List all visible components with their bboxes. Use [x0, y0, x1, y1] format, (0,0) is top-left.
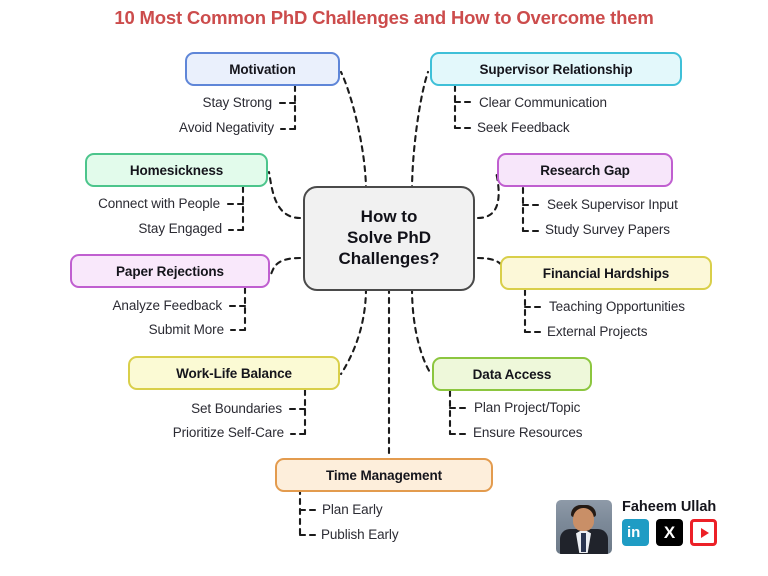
branch-node-paper-rejections[interactable]: Paper Rejections	[70, 254, 270, 288]
avatar-tie	[581, 533, 586, 552]
sub-item-plan-project-topic: Plan Project/Topic	[474, 400, 580, 415]
sub-item-stay-engaged: Stay Engaged	[25, 221, 222, 236]
central-node-line-3: Challenges?	[338, 249, 439, 270]
branch-label: Financial Hardships	[543, 266, 669, 281]
sub-item-ensure-resources: Ensure Resources	[473, 425, 582, 440]
branch-node-time-management[interactable]: Time Management	[275, 458, 493, 492]
sub-item-clear-communication: Clear Communication	[479, 95, 607, 110]
sub-item-external-projects: External Projects	[547, 324, 647, 339]
central-node-line-1: How to	[338, 207, 439, 228]
branch-label: Data Access	[473, 367, 552, 382]
avatar	[556, 500, 612, 554]
branch-label: Homesickness	[130, 163, 223, 178]
sub-item-prioritize-self-care: Prioritize Self-Care	[85, 425, 284, 440]
branch-label: Motivation	[229, 62, 296, 77]
central-node[interactable]: How to Solve PhD Challenges?	[303, 186, 475, 291]
author-name: Faheem Ullah	[622, 499, 716, 515]
sub-item-stay-strong: Stay Strong	[75, 95, 272, 110]
branch-node-supervisor-relationship[interactable]: Supervisor Relationship	[430, 52, 682, 86]
branch-node-work-life-balance[interactable]: Work-Life Balance	[128, 356, 340, 390]
sub-item-plan-early: Plan Early	[322, 502, 383, 517]
avatar-face	[573, 508, 594, 531]
youtube-icon[interactable]	[690, 519, 717, 546]
sub-item-seek-feedback: Seek Feedback	[477, 120, 570, 135]
x-glyph: X	[664, 524, 675, 541]
sub-item-analyze-feedback: Analyze Feedback	[35, 298, 222, 313]
branch-label: Work-Life Balance	[176, 366, 292, 381]
sub-item-submit-more: Submit More	[35, 322, 224, 337]
branch-label: Paper Rejections	[116, 264, 224, 279]
x-twitter-icon[interactable]: X	[656, 519, 683, 546]
sub-item-study-survey-papers: Study Survey Papers	[545, 222, 670, 237]
linkedin-icon[interactable]: in	[622, 519, 649, 546]
branch-node-motivation[interactable]: Motivation	[185, 52, 340, 86]
linkedin-glyph: in	[627, 525, 640, 540]
central-node-line-2: Solve PhD	[338, 228, 439, 249]
sub-item-set-boundaries: Set Boundaries	[85, 401, 282, 416]
branch-node-research-gap[interactable]: Research Gap	[497, 153, 673, 187]
sub-item-connect-with-people: Connect with People	[25, 196, 220, 211]
branch-node-data-access[interactable]: Data Access	[432, 357, 592, 391]
branch-node-financial-hardships[interactable]: Financial Hardships	[500, 256, 712, 290]
youtube-play-glyph	[701, 528, 709, 538]
mindmap-canvas: 10 Most Common PhD Challenges and How to…	[0, 0, 768, 576]
author-attribution: Faheem Ullah in X	[556, 498, 756, 560]
sub-item-publish-early: Publish Early	[321, 527, 399, 542]
branch-label: Time Management	[326, 468, 442, 483]
sub-item-teaching-opportunities: Teaching Opportunities	[549, 299, 685, 314]
branch-label: Research Gap	[540, 163, 630, 178]
sub-item-avoid-negativity: Avoid Negativity	[75, 120, 274, 135]
page-title: 10 Most Common PhD Challenges and How to…	[0, 7, 768, 29]
branch-label: Supervisor Relationship	[480, 62, 633, 77]
branch-node-homesickness[interactable]: Homesickness	[85, 153, 268, 187]
social-links: in X	[622, 519, 717, 546]
sub-item-seek-supervisor-input: Seek Supervisor Input	[547, 197, 678, 212]
